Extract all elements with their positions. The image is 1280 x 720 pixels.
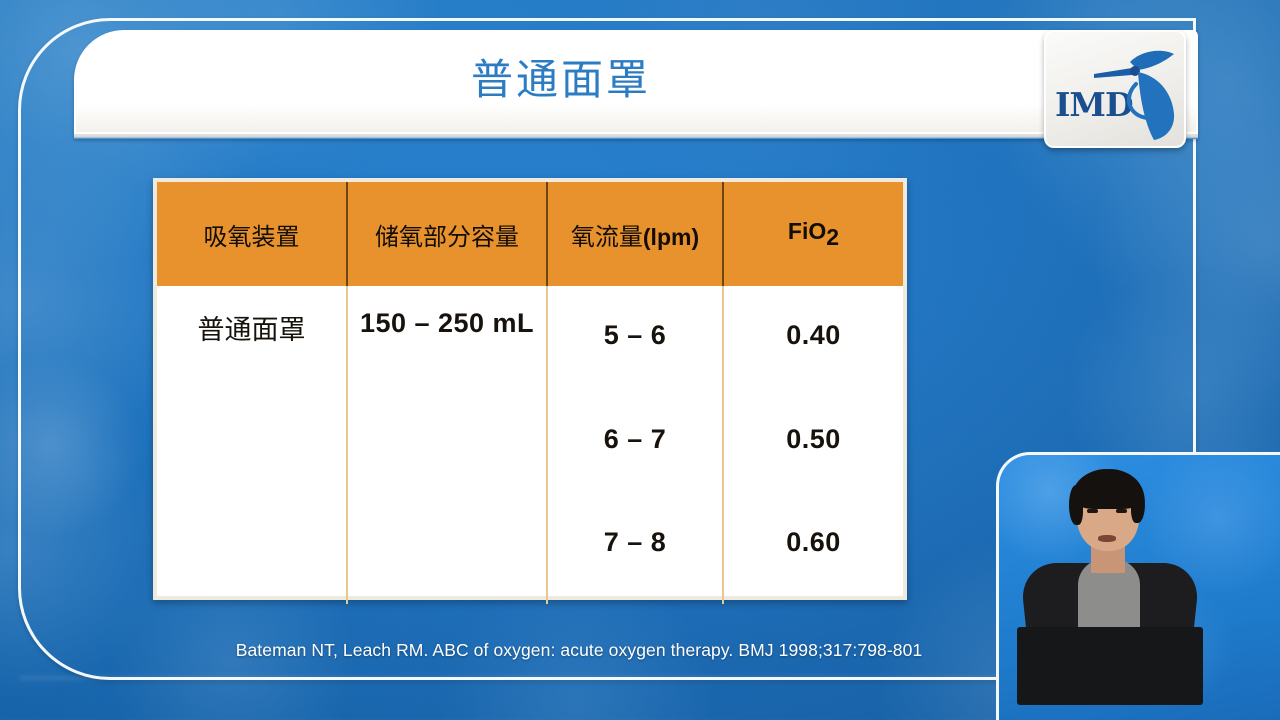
cell-flow-rates: 5 – 6 6 – 7 7 – 8 (547, 286, 723, 604)
cell-fio2-values: 0.40 0.50 0.60 (723, 286, 903, 604)
imd-logo: IMD (1044, 30, 1186, 148)
column-header-flow-rate: 氧流量(lpm) (547, 182, 723, 286)
presenter-hair-right (1131, 485, 1145, 523)
column-header-device: 吸氧装置 (157, 182, 347, 286)
fio2-value-1: 0.40 (724, 322, 903, 349)
column-header-fio2-subscript: 2 (826, 224, 839, 250)
presenter-mouth (1098, 535, 1116, 542)
presenter-hair-left (1069, 485, 1083, 525)
column-header-flow-rate-label: 氧流量 (571, 223, 643, 251)
column-header-fio2: FiO2 (723, 182, 903, 286)
cell-device: 普通面罩 (157, 286, 347, 604)
kingfisher-bird-icon (1092, 42, 1178, 142)
presenter-eye-left (1087, 509, 1098, 513)
table-row: 普通面罩 150 – 250 mL 5 – 6 6 – 7 7 – 8 0.40… (157, 286, 903, 604)
oxygen-device-table: 吸氧装置 储氧部分容量 氧流量(lpm) FiO2 普通面罩 150 – 250… (153, 178, 907, 600)
presenter-laptop (1017, 627, 1203, 705)
cell-reservoir-volume: 150 – 250 mL (347, 286, 547, 604)
citation-text: Bateman NT, Leach RM. ABC of oxygen: acu… (74, 640, 1084, 661)
flow-rate-value-1: 5 – 6 (548, 322, 722, 349)
fio2-value-3: 0.60 (724, 529, 903, 556)
flow-rate-value-3: 7 – 8 (548, 529, 722, 556)
fio2-value-2: 0.50 (724, 426, 903, 453)
page-title: 普通面罩 (74, 46, 1198, 114)
presenter-eye-right (1116, 509, 1127, 513)
table-header-row: 吸氧装置 储氧部分容量 氧流量(lpm) FiO2 (157, 182, 903, 286)
column-header-reservoir-volume: 储氧部分容量 (347, 182, 547, 286)
column-header-fio2-label: FiO (788, 218, 826, 244)
flow-rate-value-2: 6 – 7 (548, 426, 722, 453)
column-header-flow-rate-unit: (lpm) (643, 224, 699, 250)
presentation-slide: 普通面罩 IMD 吸氧装置 储氧部分容量 氧流量( (0, 0, 1280, 720)
header-divider-line (74, 134, 1198, 139)
presenter-video-inset (996, 452, 1280, 720)
